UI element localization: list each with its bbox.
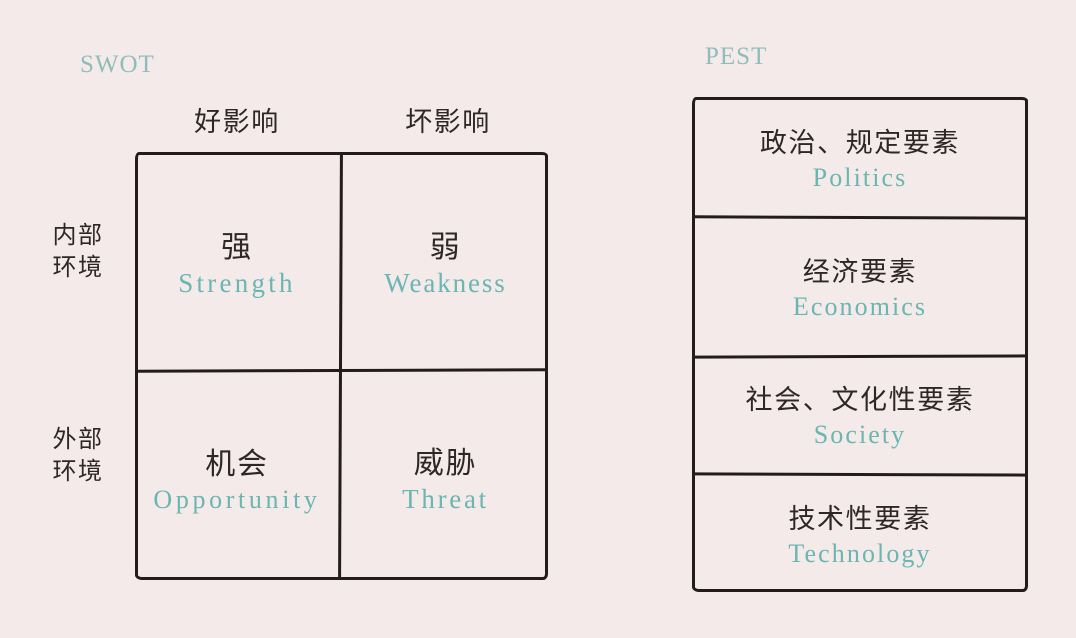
pest-row-politics-cn: 政治、规定要素	[760, 121, 960, 160]
diagram-canvas: SWOT 好影响 坏影响 内部 环境 外部 环境 强 Strength 弱 We…	[0, 0, 1076, 638]
pest-row-economics-cn: 经济要素	[803, 250, 917, 289]
pest-row-politics: 政治、规定要素 Politics	[692, 97, 1028, 216]
swot-quadrant-strength-en: Strength	[178, 268, 295, 299]
swot-matrix: 强 Strength 弱 Weakness 机会 Opportunity 威胁 …	[135, 152, 548, 580]
swot-row-label-external-line1: 外部	[26, 423, 130, 455]
pest-row-society-cn: 社会、文化性要素	[746, 378, 975, 417]
pest-row-technology-cn: 技术性要素	[788, 497, 931, 536]
swot-quadrant-opportunity: 机会 Opportunity	[135, 373, 339, 580]
swot-quadrant-weakness-cn: 弱	[430, 222, 462, 266]
swot-quadrant-weakness-en: Weakness	[384, 268, 506, 299]
pest-row-politics-en: Politics	[813, 163, 908, 193]
swot-row-label-external-line2: 环境	[26, 455, 130, 487]
pest-row-society-en: Society	[814, 420, 907, 450]
swot-quadrant-strength-cn: 强	[221, 222, 253, 266]
swot-quadrant-threat-cn: 威胁	[414, 438, 478, 482]
pest-row-technology-en: Technology	[788, 539, 931, 569]
pest-title: PEST	[705, 43, 767, 71]
swot-row-label-internal-line1: 内部	[26, 219, 130, 251]
swot-title: SWOT	[80, 51, 155, 79]
pest-row-technology: 技术性要素 Technology	[692, 473, 1028, 592]
swot-quadrant-threat-en: Threat	[402, 484, 489, 515]
swot-quadrant-weakness: 弱 Weakness	[343, 152, 548, 369]
swot-column-header-bad-impact: 坏影响	[383, 100, 513, 139]
swot-quadrant-threat: 威胁 Threat	[343, 373, 548, 580]
swot-row-label-internal-line2: 环境	[26, 251, 130, 283]
swot-quadrant-strength: 强 Strength	[135, 152, 339, 369]
swot-row-label-internal-environment: 内部 环境	[26, 219, 130, 283]
pest-row-economics: 经济要素 Economics	[692, 216, 1028, 355]
pest-table: 政治、规定要素 Politics 经济要素 Economics 社会、文化性要素…	[692, 97, 1028, 592]
swot-quadrant-opportunity-cn: 机会	[205, 439, 269, 483]
swot-column-header-good-impact: 好影响	[172, 100, 302, 139]
swot-row-label-external-environment: 外部 环境	[26, 423, 130, 487]
pest-row-economics-en: Economics	[793, 292, 927, 322]
swot-quadrant-opportunity-en: Opportunity	[153, 485, 320, 515]
pest-row-society: 社会、文化性要素 Society	[692, 355, 1028, 473]
